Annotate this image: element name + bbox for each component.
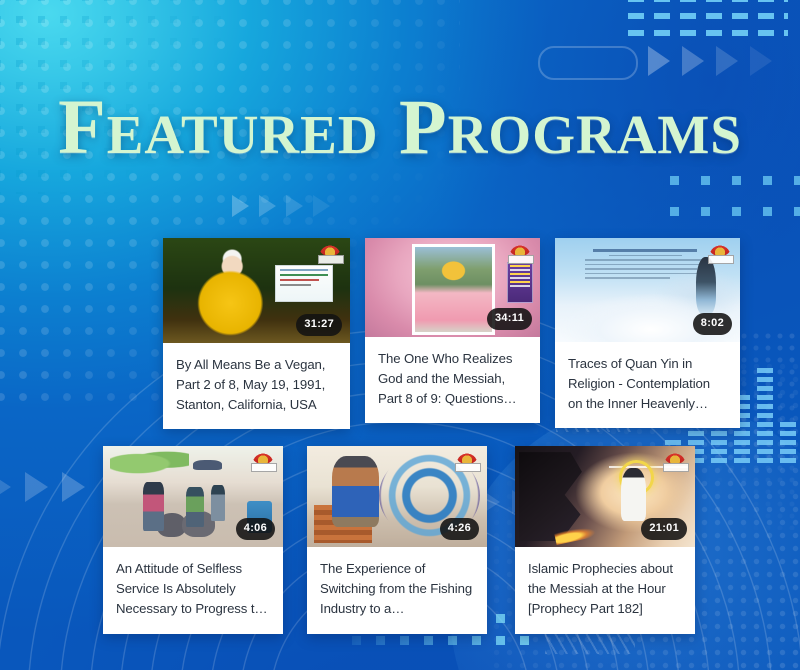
thumbnail-inner-photo — [412, 244, 495, 335]
play-triangle-icon — [750, 46, 772, 76]
featured-programs-banner: Featured Programs 31:27 By All Means Be … — [0, 0, 800, 670]
thumbnail-the-experience-of-switching-from-the-fishing-industry[interactable]: 4:26 — [307, 446, 487, 547]
channel-logo-icon — [706, 242, 734, 264]
thumbnail-islamic-prophecies-about-the-messiah[interactable]: 21:01 — [515, 446, 695, 547]
program-card[interactable]: 4:26 The Experience of Switching from th… — [307, 446, 487, 634]
equalizer-column — [780, 422, 796, 463]
duration-badge: 4:26 — [440, 518, 479, 540]
play-triangle-icon — [25, 472, 48, 502]
play-triangle-icon — [259, 195, 276, 217]
channel-logo-icon — [249, 450, 277, 472]
play-triangle-icon — [682, 46, 704, 76]
duration-badge: 34:11 — [487, 308, 532, 330]
program-title: An Attitude of Selfless Service Is Absol… — [103, 547, 283, 633]
duration-badge: 4:06 — [236, 518, 275, 540]
program-card[interactable]: 8:02 Traces of Quan Yin in Religion - Co… — [555, 238, 740, 428]
square-matrix-right — [670, 176, 800, 234]
equalizer-column — [757, 368, 773, 463]
play-triangle-icon — [0, 472, 11, 502]
duration-badge: 31:27 — [296, 314, 342, 336]
arrows-top-right — [648, 46, 772, 76]
duration-badge: 21:01 — [641, 518, 687, 540]
program-title: By All Means Be a Vegan, Part 2 of 8, Ma… — [163, 343, 350, 429]
channel-logo-icon — [453, 450, 481, 472]
program-card[interactable]: 21:01 Islamic Prophecies about the Messi… — [515, 446, 695, 634]
play-triangle-icon — [313, 195, 330, 217]
thumbnail-figure — [696, 257, 716, 314]
program-card[interactable]: 34:11 The One Who Realizes God and the M… — [365, 238, 540, 423]
program-title: The Experience of Switching from the Fis… — [307, 547, 487, 633]
arrows-mid-left — [232, 195, 330, 217]
thumbnail-text-lines — [585, 246, 707, 288]
arrows-bottom-left — [0, 472, 85, 502]
channel-logo-icon — [661, 450, 689, 472]
thumbnail-traces-of-quan-yin-in-religion[interactable]: 8:02 — [555, 238, 740, 342]
channel-logo-icon — [506, 242, 534, 264]
thumbnail-overlay-panel — [507, 262, 534, 303]
thumbnail-overlay-panel — [275, 265, 333, 302]
channel-logo-icon — [316, 242, 344, 264]
play-triangle-icon — [286, 195, 303, 217]
page-title: Featured Programs — [0, 88, 800, 166]
thumbnail-the-one-who-realizes-god-and-the-messiah[interactable]: 34:11 — [365, 238, 540, 337]
dash-grid-top-right — [628, 0, 788, 38]
duration-badge: 8:02 — [693, 313, 732, 335]
program-title: Islamic Prophecies about the Messiah at … — [515, 547, 695, 633]
program-card[interactable]: 4:06 An Attitude of Selfless Service Is … — [103, 446, 283, 634]
play-triangle-icon — [648, 46, 670, 76]
program-title: The One Who Realizes God and the Messiah… — [365, 337, 540, 423]
pill-outline-icon — [538, 46, 638, 80]
play-triangle-icon — [716, 46, 738, 76]
thumbnail-an-attitude-of-selfless-service[interactable]: 4:06 — [103, 446, 283, 547]
thumbnail-by-all-means-be-a-vegan[interactable]: 31:27 — [163, 238, 350, 343]
program-title: Traces of Quan Yin in Religion - Contemp… — [555, 342, 740, 428]
play-triangle-icon — [232, 195, 249, 217]
play-triangle-icon — [62, 472, 85, 502]
program-card[interactable]: 31:27 By All Means Be a Vegan, Part 2 of… — [163, 238, 350, 429]
